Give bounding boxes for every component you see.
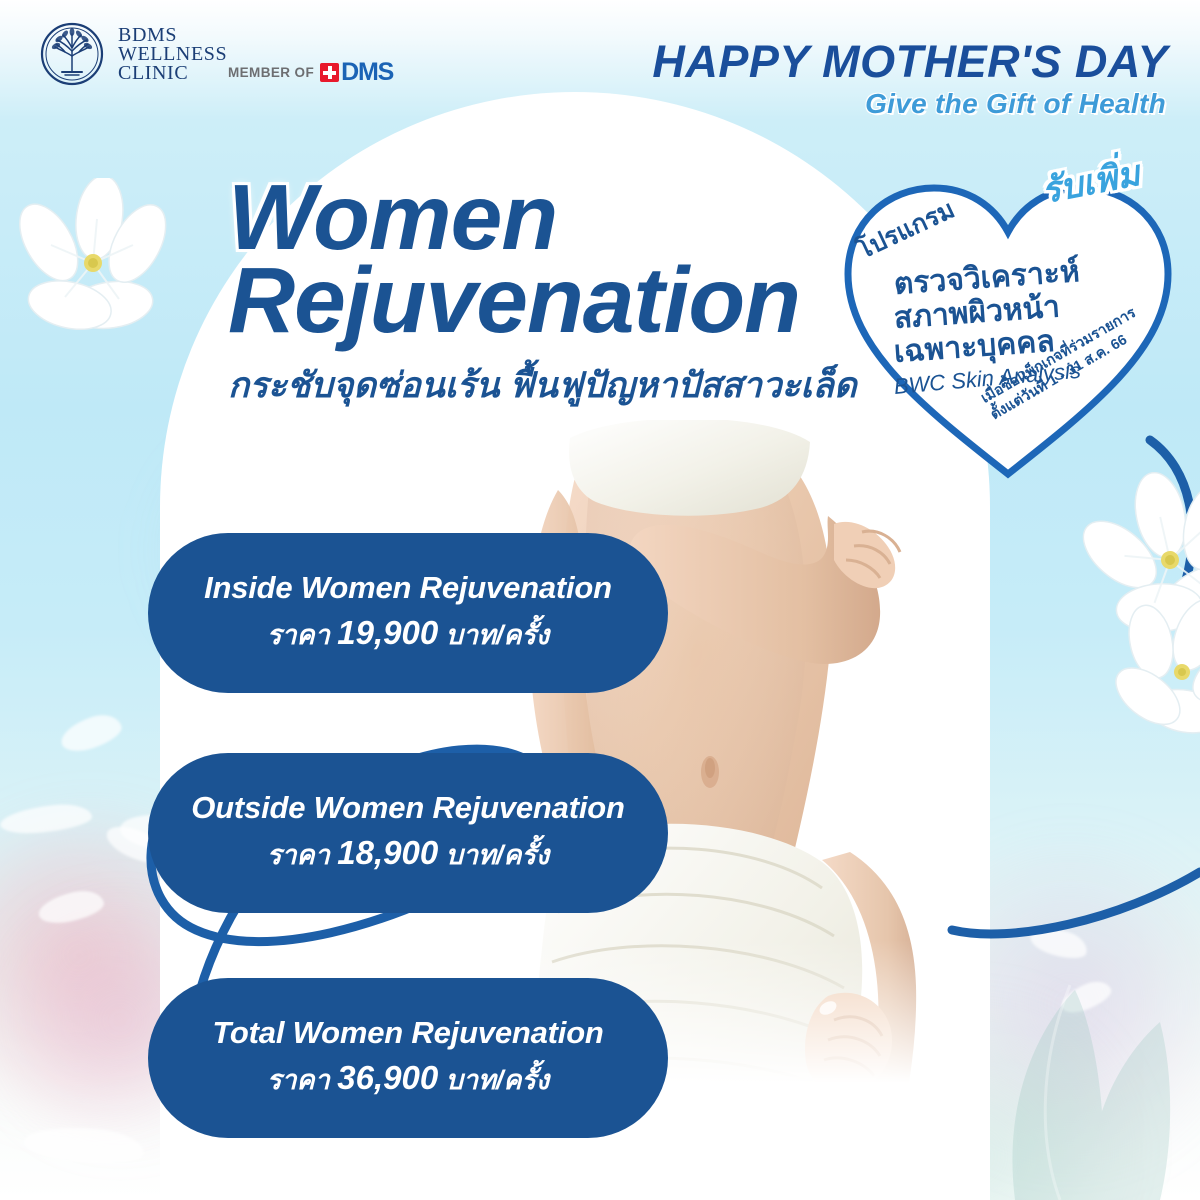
campaign-tagline: Give the Gift of Health xyxy=(865,88,1166,120)
jasmine-flower-icon xyxy=(1102,596,1200,746)
clinic-name-line-1: BDMS xyxy=(118,26,227,45)
package-price: ราคา 18,900 บาท/ครั้ง xyxy=(267,833,549,876)
clinic-name-line-3: CLINIC xyxy=(118,64,227,83)
bonus-heart-badge: รับเพิ่ม โปรแกรม ตรวจวิเคราะห์ สภาพผิวหน… xyxy=(828,148,1188,508)
bdms-wordmark: DMS xyxy=(341,58,393,87)
price-amount: 19,900 xyxy=(337,614,438,651)
jasmine-flower-icon xyxy=(8,178,178,348)
package-card-total[interactable]: Total Women Rejuvenation ราคา 36,900 บาท… xyxy=(148,978,668,1138)
campaign-headline: HAPPY MOTHER'S DAY xyxy=(652,36,1168,88)
package-name: Inside Women Rejuvenation xyxy=(204,570,612,606)
clinic-name-line-2: WELLNESS xyxy=(118,45,227,64)
price-prefix: ราคา xyxy=(267,620,330,650)
price-suffix: บาท/ครั้ง xyxy=(446,1065,549,1095)
hero-subtitle: กระชับจุดซ่อนเร้น ฟื้นฟูปัญหาปัสสาวะเล็ด xyxy=(228,358,868,413)
package-price: ราคา 36,900 บาท/ครั้ง xyxy=(267,1058,549,1101)
clinic-name: BDMS WELLNESS CLINIC xyxy=(118,26,227,83)
package-name: Outside Women Rejuvenation xyxy=(191,790,624,826)
price-prefix: ราคา xyxy=(267,840,330,870)
package-card-outside[interactable]: Outside Women Rejuvenation ราคา 18,900 บ… xyxy=(148,753,668,913)
tree-logo-icon xyxy=(40,22,104,86)
package-price: ราคา 19,900 บาท/ครั้ง xyxy=(267,613,549,656)
package-name: Total Women Rejuvenation xyxy=(212,1015,603,1051)
bdms-wellness-clinic-logo: BDMS WELLNESS CLINIC xyxy=(40,22,227,86)
member-of-label: MEMBER OF xyxy=(228,65,314,80)
price-prefix: ราคา xyxy=(267,1065,330,1095)
promo-poster: BDMS WELLNESS CLINIC MEMBER OF DMS HAPPY… xyxy=(0,0,1200,1200)
member-of-bdms-logo: MEMBER OF DMS xyxy=(228,58,393,87)
medical-cross-icon xyxy=(320,63,339,82)
hero-title: Women Rejuvenation xyxy=(228,176,868,342)
package-card-inside[interactable]: Inside Women Rejuvenation ราคา 19,900 บา… xyxy=(148,533,668,693)
price-amount: 36,900 xyxy=(337,1059,438,1096)
poster-header: BDMS WELLNESS CLINIC MEMBER OF DMS HAPPY… xyxy=(0,0,1200,118)
hero-headline: Women Rejuvenation กระชับจุดซ่อนเร้น ฟื้… xyxy=(228,176,868,413)
price-suffix: บาท/ครั้ง xyxy=(446,840,549,870)
price-amount: 18,900 xyxy=(337,834,438,871)
hero-title-line-2: Rejuvenation xyxy=(228,248,800,352)
price-suffix: บาท/ครั้ง xyxy=(446,620,549,650)
